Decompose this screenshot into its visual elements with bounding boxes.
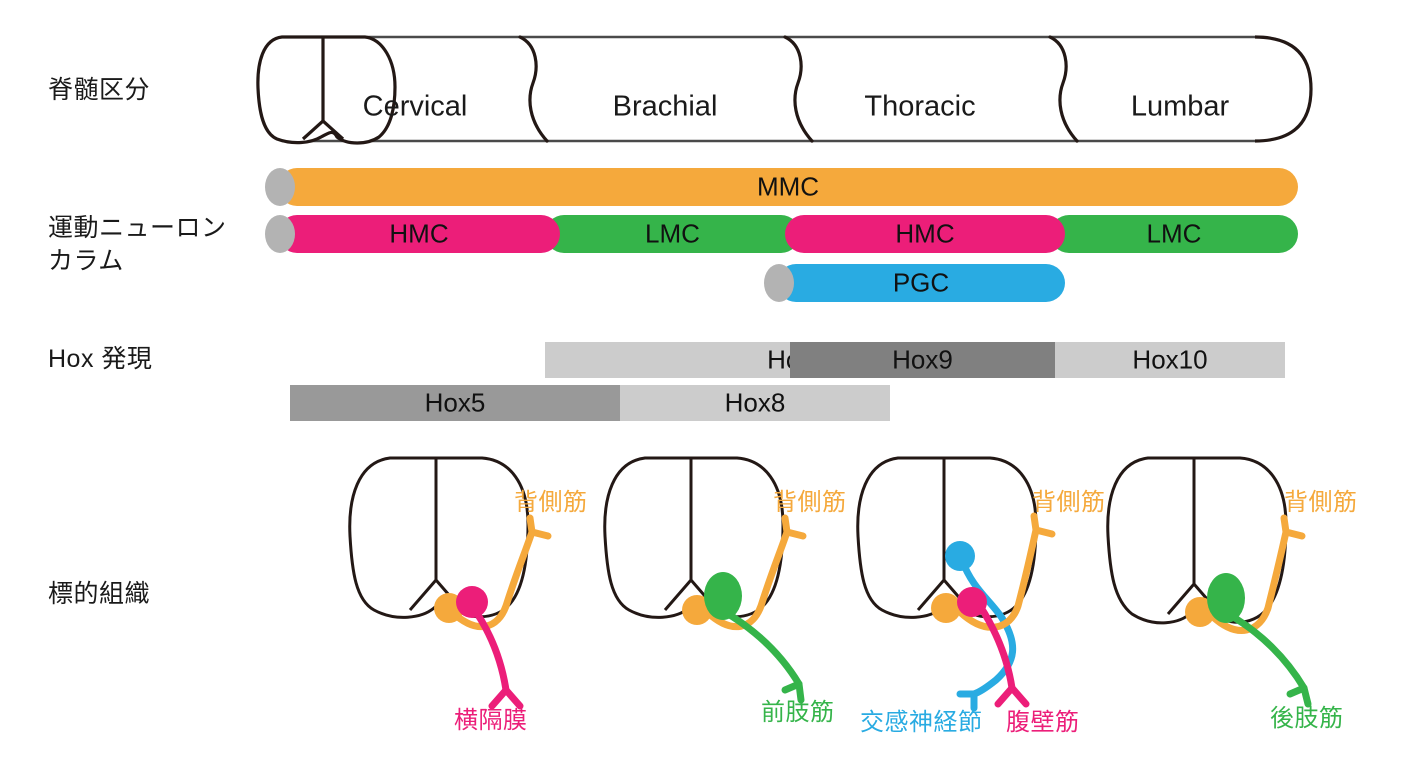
mmc-bar-cap	[265, 168, 295, 206]
pgc-bar-label: PGC	[893, 268, 949, 299]
body-wall-muscle-label: 腹壁筋	[1006, 702, 1080, 737]
spinal-cord-diagram: 脊髄区分 運動ニューロン カラム Hox 発現 標的組織 Cervical Br…	[0, 0, 1417, 775]
hmc-bar-label-thoracic: HMC	[895, 219, 954, 250]
hmc-bar-label-cervical: HMC	[389, 219, 448, 250]
diaphragm-label: 横隔膜	[454, 700, 528, 735]
mmc-bar: MMC	[278, 168, 1298, 206]
segment-label-lumbar: Lumbar	[1131, 91, 1229, 124]
hmc-bar-cervical: HMC	[278, 215, 560, 253]
lmc-bar-lumbar: LMC	[1050, 215, 1298, 253]
hox10-bar: Hox10	[1055, 342, 1285, 378]
lmc-bar-label-lumbar: LMC	[1147, 219, 1202, 250]
lmc-soma	[704, 572, 742, 620]
hox8-bar: Hox8	[620, 385, 890, 421]
hmc-bar-cap	[265, 215, 295, 253]
dorsal-muscle-label-cervical: 背側筋	[514, 482, 588, 517]
lmc-bar-brachial: LMC	[545, 215, 800, 253]
row-label-hox-expression: Hox 発現	[48, 343, 152, 376]
dorsal-muscle-label-lumbar: 背側筋	[1284, 482, 1358, 517]
row-label-spinal-segments: 脊髄区分	[48, 74, 150, 107]
hox9-label: Hox9	[892, 345, 953, 376]
segment-label-cervical: Cervical	[363, 91, 468, 124]
hmc-bar-thoracic: HMC	[785, 215, 1065, 253]
pgc-bar-cap	[764, 264, 794, 302]
lumbar-panel: 背側筋 後肢筋	[1088, 440, 1388, 760]
hox8-label: Hox8	[725, 388, 786, 419]
hox10-label: Hox10	[1132, 345, 1207, 376]
hox5-label: Hox5	[425, 388, 486, 419]
segment-label-brachial: Brachial	[613, 91, 718, 124]
sympathetic-ganglion-label: 交感神経節	[860, 702, 983, 737]
pgc-soma	[945, 541, 975, 571]
hmc-soma	[456, 586, 488, 618]
hox9-bar: Hox9	[790, 342, 1055, 378]
hindlimb-muscle-label: 後肢筋	[1270, 698, 1344, 733]
forelimb-muscle-label: 前肢筋	[761, 692, 835, 727]
hox5-bar: Hox5	[290, 385, 620, 421]
dorsal-muscle-label-brachial: 背側筋	[773, 482, 847, 517]
mmc-soma	[931, 593, 961, 623]
row-label-target-tissue: 標的組織	[48, 578, 150, 611]
segment-label-thoracic: Thoracic	[864, 91, 975, 124]
mmc-bar-label: MMC	[757, 172, 819, 203]
hmc-soma	[957, 587, 987, 617]
row-label-motor-columns: 運動ニューロン カラム	[48, 212, 227, 278]
lmc-bar-label-brachial: LMC	[645, 219, 700, 250]
spinal-segment-bar: Cervical Brachial Thoracic Lumbar	[255, 33, 1315, 145]
pgc-bar: PGC	[777, 264, 1065, 302]
lmc-soma	[1207, 573, 1245, 623]
